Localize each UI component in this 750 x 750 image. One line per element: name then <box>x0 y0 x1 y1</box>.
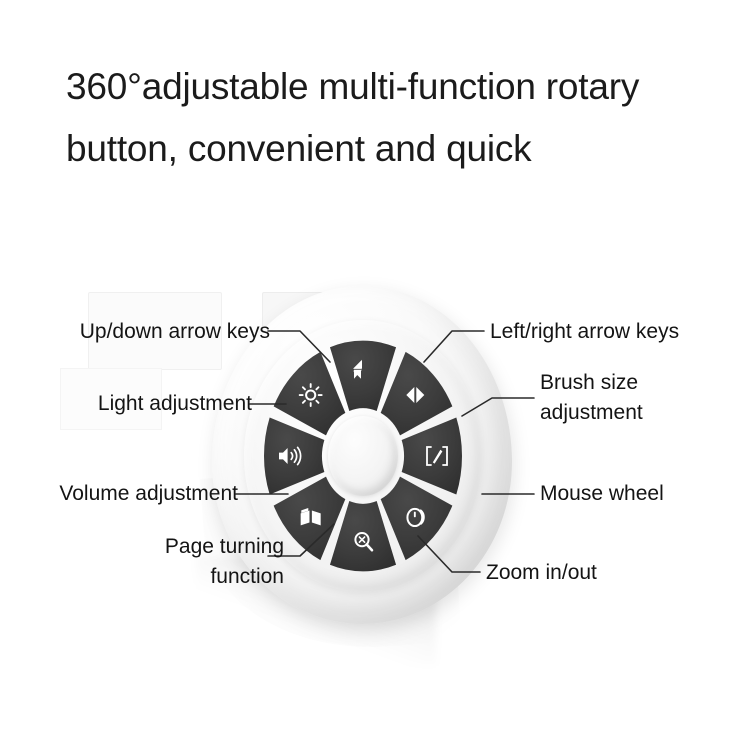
callout-label-volume-adjustment: Volume adjustment <box>59 479 238 509</box>
title-line-1: 360°adjustable multi-function rotary <box>66 56 706 118</box>
callout-label-page-turning-line-2: function <box>114 562 284 592</box>
callout-label-mouse-wheel: Mouse wheel <box>540 479 664 509</box>
wheel-segment-page[interactable] <box>274 477 346 561</box>
page-title: 360°adjustable multi-function rotary but… <box>66 56 706 180</box>
callout-label-left-right-arrow-keys: Left/right arrow keys <box>490 317 679 347</box>
callout-label-page-turning-line-1: Page turning <box>114 532 284 562</box>
callout-label-up-down-arrow-keys: Up/down arrow keys <box>80 317 270 347</box>
callout-label-zoom-in-out: Zoom in/out <box>486 558 597 588</box>
rotary-wheel[interactable] <box>262 338 464 574</box>
callout-label-light-adjustment: Light adjustment <box>98 389 252 419</box>
callout-label-brush-size-line-2: adjustment <box>540 398 710 428</box>
center-confirm-button[interactable] <box>328 416 398 496</box>
infographic-page: 360°adjustable multi-function rotary but… <box>0 0 750 750</box>
callout-label-brush-size-adjustment: Brush size adjustment <box>540 368 710 428</box>
callout-label-brush-size-line-1: Brush size <box>540 368 710 398</box>
callout-label-page-turning-function: Page turning function <box>114 532 284 592</box>
title-line-2: button, convenient and quick <box>66 118 706 180</box>
wheel-segment-mouse[interactable] <box>381 477 453 561</box>
wheel-segment-light[interactable] <box>274 352 346 436</box>
